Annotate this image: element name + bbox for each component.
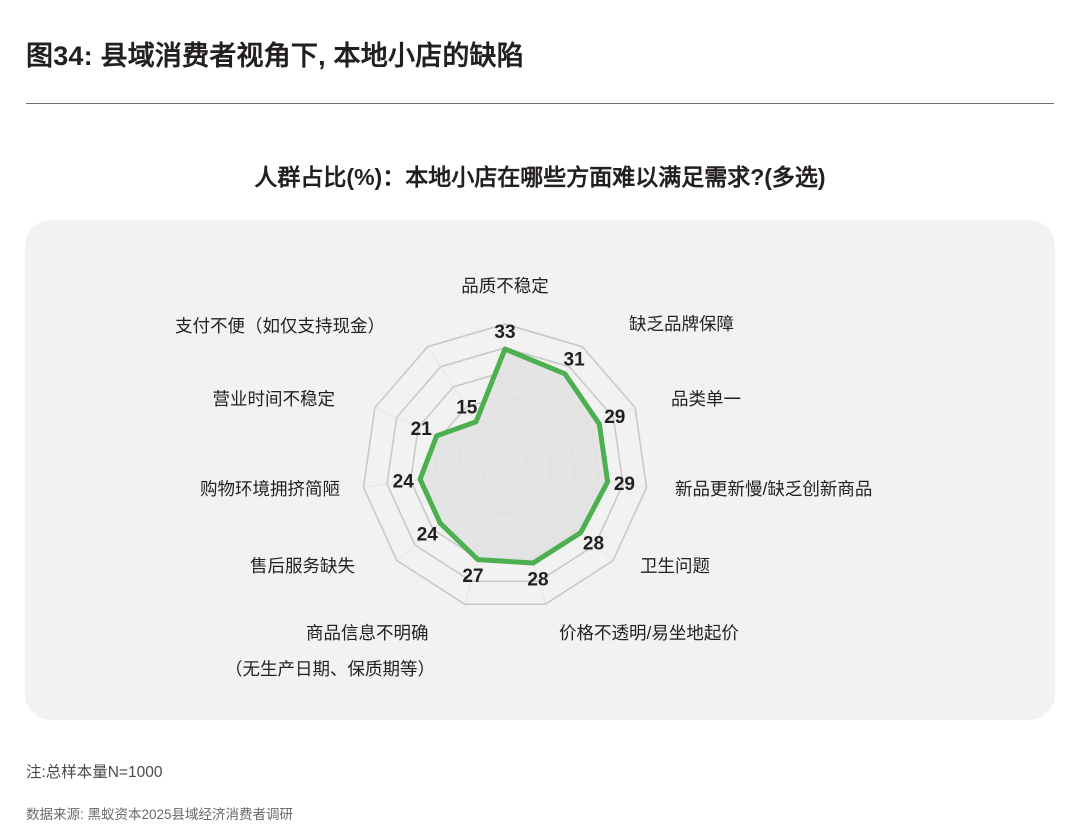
- value-label-5: 28: [527, 569, 548, 590]
- axis-label-pinzhi-buwending: 品质不稳定: [461, 276, 549, 296]
- value-label-6: 27: [462, 566, 483, 587]
- value-label-8: 24: [393, 472, 415, 493]
- axis-label-shangpin-xinxi-line1: 商品信息不明确: [306, 623, 429, 643]
- value-label-7: 24: [417, 524, 439, 545]
- axis-label-yingye-shijian: 营业时间不稳定: [213, 389, 336, 409]
- axis-label-gouwu-huanjing: 购物环境拥挤简陋: [200, 479, 340, 499]
- chart-card: 33 31 29 29 28 28 27 24 24 21 15 品质不稳定 缺…: [25, 220, 1055, 720]
- value-label-1: 31: [564, 350, 586, 371]
- value-label-4: 28: [583, 534, 604, 555]
- chart-subtitle: 人群占比(%)：本地小店在哪些方面难以满足需求?(多选): [0, 158, 1080, 192]
- axis-label-quefa-pinpai-baozhang: 缺乏品牌保障: [629, 314, 734, 334]
- axis-label-shangpin-xinxi-line2: （无生产日期、保质期等）: [225, 659, 435, 679]
- axis-label-zhifu-bubian: 支付不便（如仅支持现金）: [175, 316, 385, 336]
- value-label-2: 29: [604, 407, 625, 428]
- axis-label-shouhou-fuwu-queshi: 售后服务缺失: [250, 556, 355, 576]
- axis-label-xinpin-gengxin-man: 新品更新慢/缺乏创新商品: [675, 479, 872, 499]
- sample-size-note: 注:总样本量N=1000: [26, 760, 163, 782]
- title-divider: [26, 103, 1054, 104]
- axis-label-jiage-butouming: 价格不透明/易坐地起价: [559, 623, 739, 643]
- axis-label-pinlei-danyi: 品类单一: [671, 389, 741, 409]
- value-label-0: 33: [494, 322, 515, 343]
- data-source-note: 数据来源: 黑蚁资本2025县域经济消费者调研: [26, 803, 293, 823]
- page-title: 图34: 县域消费者视角下, 本地小店的缺陷: [26, 34, 524, 73]
- value-label-3: 29: [614, 474, 635, 495]
- axis-label-weisheng-wenti: 卫生问题: [640, 556, 710, 576]
- value-label-10: 15: [456, 398, 478, 419]
- value-label-9: 21: [411, 419, 433, 440]
- radar-chart: 33 31 29 29 28 28 27 24 24 21 15 品质不稳定 缺…: [25, 220, 1055, 720]
